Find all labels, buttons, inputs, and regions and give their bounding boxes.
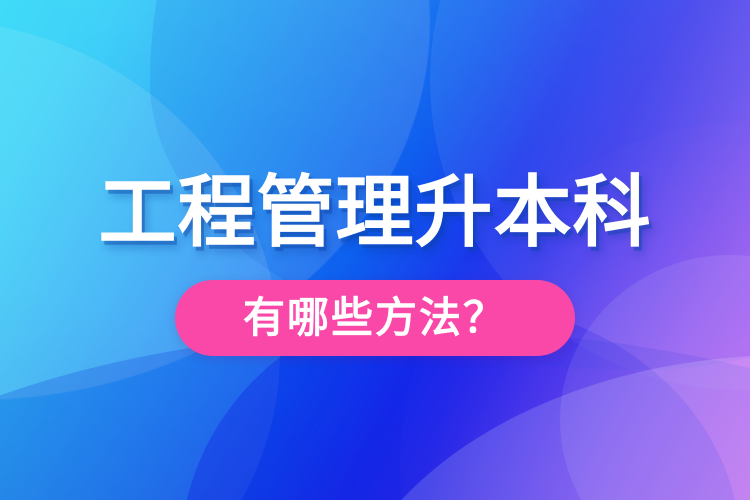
banner-subtitle-text: 有哪些方法？ [243, 295, 507, 341]
banner-content: 工程管理升本科 有哪些方法？ [0, 0, 750, 500]
banner-subtitle-pill: 有哪些方法？ [175, 280, 575, 356]
banner-headline: 工程管理升本科 [0, 166, 750, 258]
promo-banner: 工程管理升本科 有哪些方法？ [0, 0, 750, 500]
